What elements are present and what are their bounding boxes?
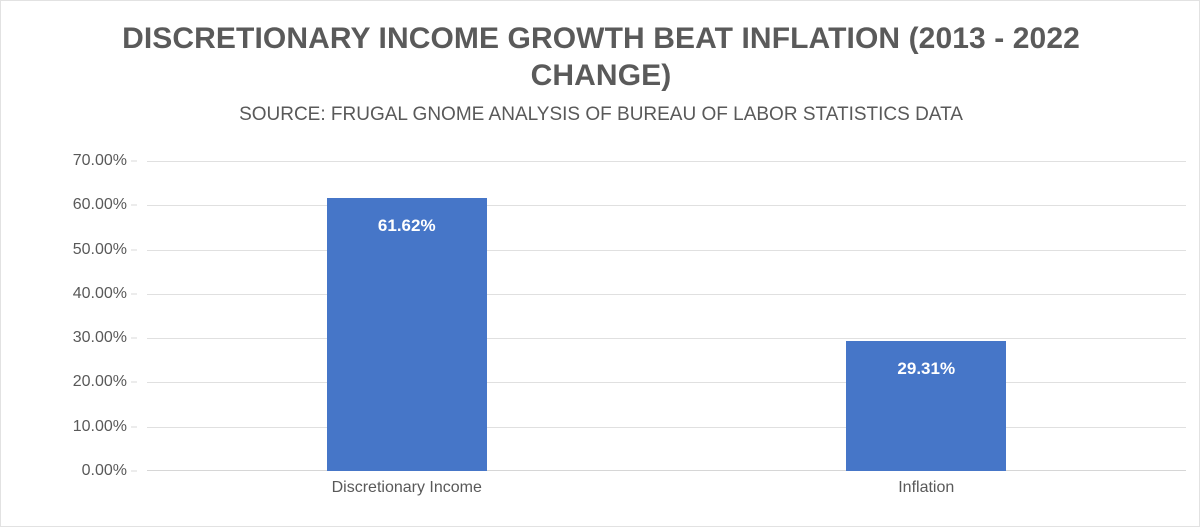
x-axis-category-labels: Discretionary Income Inflation bbox=[147, 479, 1186, 509]
chart-title: DISCRETIONARY INCOME GROWTH BEAT INFLATI… bbox=[61, 21, 1141, 94]
y-tick-label: 50.00% bbox=[73, 241, 127, 259]
bar-slot-discretionary-income: 61.62% bbox=[147, 161, 667, 471]
y-tick-mark bbox=[131, 382, 137, 383]
bar-inflation[interactable]: 29.31% bbox=[846, 341, 1006, 471]
y-tick-label: 10.00% bbox=[73, 418, 127, 436]
plot-area: 61.62% 29.31% bbox=[147, 161, 1186, 471]
y-axis-tick-labels: 70.00% 60.00% 50.00% 40.00% 30.00% 20.00… bbox=[45, 161, 137, 471]
y-tick-label: 60.00% bbox=[73, 196, 127, 214]
y-tick-mark bbox=[131, 249, 137, 250]
bar-discretionary-income[interactable]: 61.62% bbox=[327, 198, 487, 471]
y-tick-label: 40.00% bbox=[73, 285, 127, 303]
bar-value-label: 29.31% bbox=[846, 359, 1006, 379]
chart-subtitle: SOURCE: FRUGAL GNOME ANALYSIS OF BUREAU … bbox=[61, 104, 1141, 127]
y-tick-mark bbox=[131, 161, 137, 162]
y-tick-label: 30.00% bbox=[73, 329, 127, 347]
y-tick-mark bbox=[131, 426, 137, 427]
y-tick-mark bbox=[131, 471, 137, 472]
y-tick-label: 0.00% bbox=[82, 462, 127, 480]
x-category-label-discretionary-income: Discretionary Income bbox=[147, 479, 667, 497]
y-tick-mark bbox=[131, 205, 137, 206]
bar-slot-inflation: 29.31% bbox=[667, 161, 1187, 471]
y-tick-mark bbox=[131, 293, 137, 294]
y-tick-mark bbox=[131, 338, 137, 339]
chart-container: DISCRETIONARY INCOME GROWTH BEAT INFLATI… bbox=[0, 0, 1200, 527]
chart-title-block: DISCRETIONARY INCOME GROWTH BEAT INFLATI… bbox=[61, 21, 1141, 127]
x-category-label-inflation: Inflation bbox=[667, 479, 1187, 497]
y-tick-label: 70.00% bbox=[73, 152, 127, 170]
bar-value-label: 61.62% bbox=[327, 216, 487, 236]
bars-layer: 61.62% 29.31% bbox=[147, 161, 1186, 471]
y-tick-label: 20.00% bbox=[73, 373, 127, 391]
